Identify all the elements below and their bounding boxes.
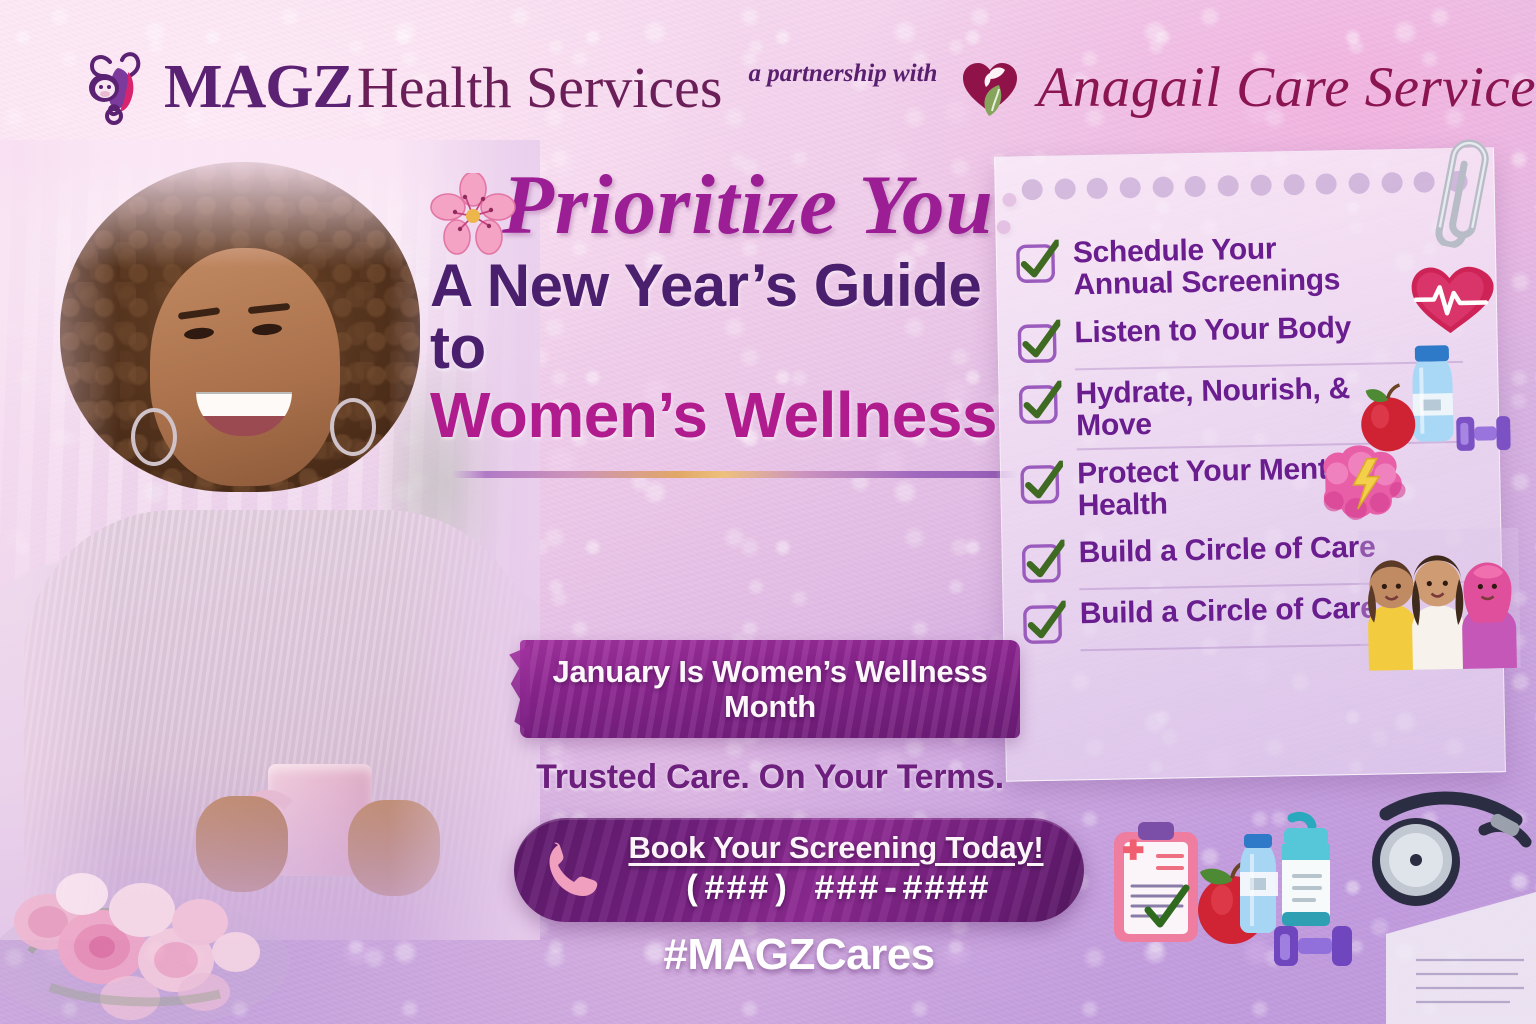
partnership-text: a partnership with [748,60,937,88]
checklist-item[interactable]: Hydrate, Nourish, & Move [1017,361,1482,450]
checkbox-checked-icon[interactable] [1019,460,1064,505]
checklist-item[interactable]: Build a Circle of Care [1021,582,1486,652]
checklist-label: Listen to Your Body [1074,310,1351,350]
checkbox-checked-icon[interactable] [1020,540,1065,585]
poster-canvas: MAGZ Health Services a partnership with … [0,0,1536,1024]
book-screening-button[interactable]: Book Your Screening Today! (###) ###-###… [514,818,1084,922]
phone-number: (###) ###-#### [624,870,1048,910]
magz-wordmark: MAGZ Health Services [164,52,722,123]
checklist-label: Build a Circle of Care [1078,530,1375,570]
checklist-item[interactable]: Schedule Your Annual Screenings [1014,221,1479,310]
punch-hole [1381,172,1402,193]
tagline: Trusted Care. On Your Terms. [520,758,1020,797]
hand-right [348,800,440,896]
punch-hole [1021,179,1042,200]
hashtag: #MAGZCares [514,930,1084,980]
brand-header: MAGZ Health Services a partnership with … [84,44,1476,130]
checklist-item[interactable]: Protect Your Mental Health [1019,441,1484,530]
checkbox-checked-icon[interactable] [1017,380,1062,425]
headline-subline: A New Year’s Guide to [430,255,1050,380]
face [150,248,340,486]
checkbox-checked-icon[interactable] [1016,319,1061,364]
punch-hole [1283,174,1304,195]
medical-items-illustration [1086,784,1536,1024]
phone-handset-icon [542,837,608,903]
checklist-item[interactable]: Build a Circle of Care [1020,521,1485,591]
punch-hole [1152,176,1173,197]
cta-text-block: Book Your Screening Today! (###) ###-###… [624,830,1084,910]
wellness-month-text: January Is Women’s Wellness Month [520,654,1020,725]
punch-hole [1316,173,1337,194]
punch-hole [1250,175,1271,196]
book-screening-label: Book Your Screening Today! [624,830,1048,866]
checklist-label: Hydrate, Nourish, & Move [1075,370,1376,443]
punch-hole [1218,175,1239,196]
magz-name-light: Health Services [357,55,723,120]
checkbox-checked-icon[interactable] [1015,240,1060,285]
cherry-blossom-icon [430,173,516,259]
headline-block: Prioritize You: A New Year’s Guide to Wo… [430,165,1050,478]
anagail-wordmark: Anagail Care Services [1037,55,1536,120]
pink-roses-bouquet-icon [0,802,320,1024]
checkbox-checked-icon[interactable] [1022,601,1067,646]
punch-hole [1087,178,1108,199]
checklist-items: Schedule Your Annual Screenings Listen t… [1014,221,1486,652]
checklist-card: Schedule Your Annual Screenings Listen t… [994,147,1506,781]
ruled-line [1081,642,1469,651]
magz-name-bold: MAGZ [164,53,353,121]
magz-mother-child-icon [84,48,148,126]
headline-mainline: Women’s Wellness [430,383,1050,448]
hoop-earring-right [330,398,376,456]
checklist-label: Protect Your Mental Health [1077,450,1378,523]
punch-holes [1021,171,1467,201]
headline-script: Prioritize You: [502,165,1050,247]
hoop-earring-left [131,408,177,466]
punch-hole [1348,173,1369,194]
anagail-heart-leaf-icon [959,56,1021,118]
punch-hole [1120,177,1141,198]
checklist-label: Build a Circle of Care [1080,591,1377,631]
checklist-item[interactable]: Listen to Your Body [1016,300,1481,370]
punch-hole [1054,178,1075,199]
wellness-month-banner: January Is Women’s Wellness Month [520,640,1020,738]
checklist-label: Schedule Your Annual Screenings [1073,230,1374,303]
gradient-divider [452,471,1018,478]
punch-hole [1185,176,1206,197]
